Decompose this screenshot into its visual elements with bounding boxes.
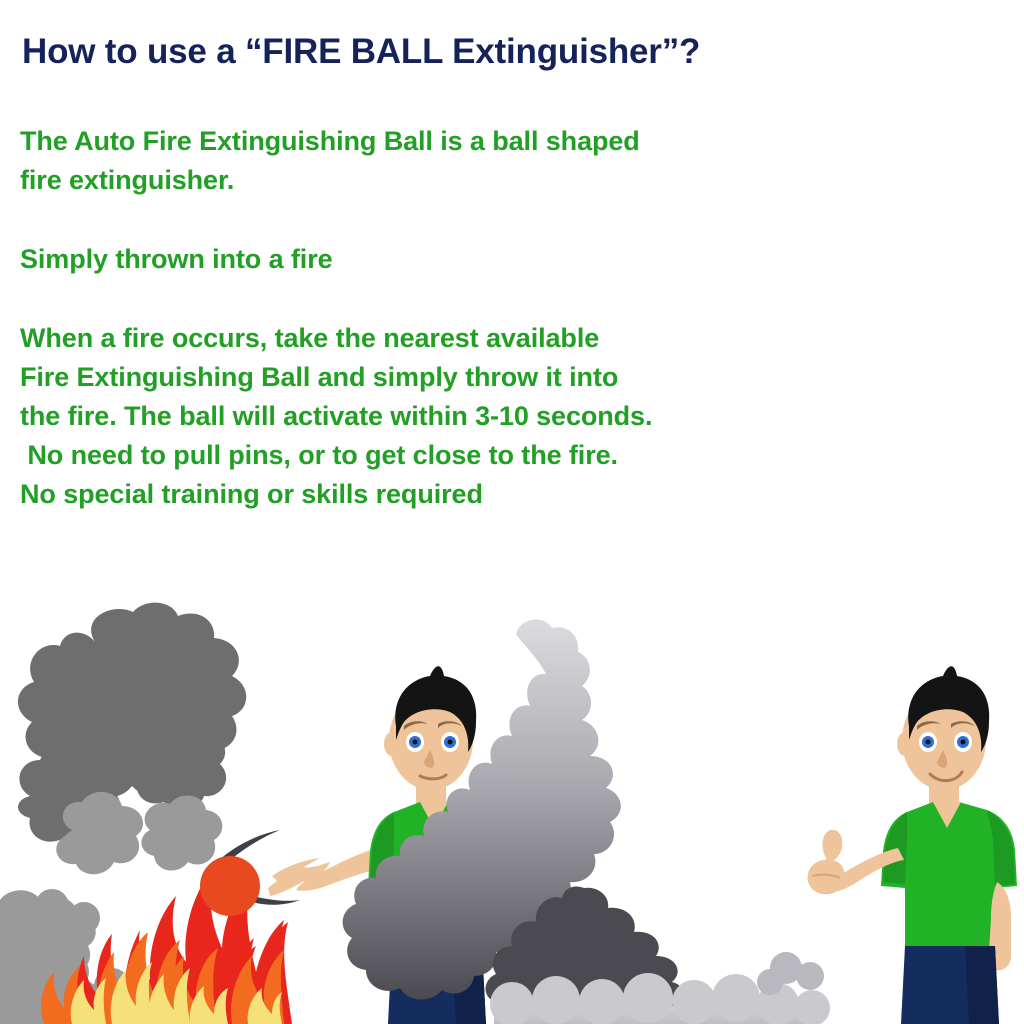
slide-canvas: How to use a “FIRE BALL Extinguisher”? T… bbox=[0, 0, 1024, 1024]
illustration bbox=[0, 600, 1024, 1024]
pants-shade bbox=[965, 946, 999, 1024]
body-text-block: The Auto Fire Extinguishing Ball is a ba… bbox=[20, 122, 840, 514]
ear bbox=[384, 732, 400, 756]
motion-line-lower bbox=[252, 896, 300, 905]
paragraph-definition: The Auto Fire Extinguishing Ball is a ba… bbox=[20, 122, 840, 200]
text-line: No special training or skills required bbox=[20, 475, 840, 514]
paragraph-spacer bbox=[20, 279, 840, 319]
fire-ball bbox=[200, 856, 260, 916]
pupil-right bbox=[961, 740, 966, 745]
ear bbox=[897, 732, 913, 756]
text-line: Fire Extinguishing Ball and simply throw… bbox=[20, 358, 840, 397]
pupil-right bbox=[448, 740, 453, 745]
page-title: How to use a “FIRE BALL Extinguisher”? bbox=[22, 32, 700, 72]
paragraph-details: When a fire occurs, take the nearest ava… bbox=[20, 319, 840, 514]
text-line: Simply thrown into a fire bbox=[20, 240, 840, 279]
paragraph-instruction: Simply thrown into a fire bbox=[20, 240, 840, 279]
text-line: When a fire occurs, take the nearest ava… bbox=[20, 319, 840, 358]
paragraph-spacer bbox=[20, 200, 840, 240]
thumb bbox=[823, 830, 843, 864]
person-thumbs-up bbox=[808, 666, 1017, 1024]
text-line: the fire. The ball will activate within … bbox=[20, 397, 840, 436]
text-line: No need to pull pins, or to get close to… bbox=[20, 436, 840, 475]
text-line: fire extinguisher. bbox=[20, 161, 840, 200]
text-line: The Auto Fire Extinguishing Ball is a ba… bbox=[20, 122, 840, 161]
pupil-left bbox=[413, 740, 418, 745]
pupil-left bbox=[926, 740, 931, 745]
fire-scene bbox=[0, 603, 330, 1024]
